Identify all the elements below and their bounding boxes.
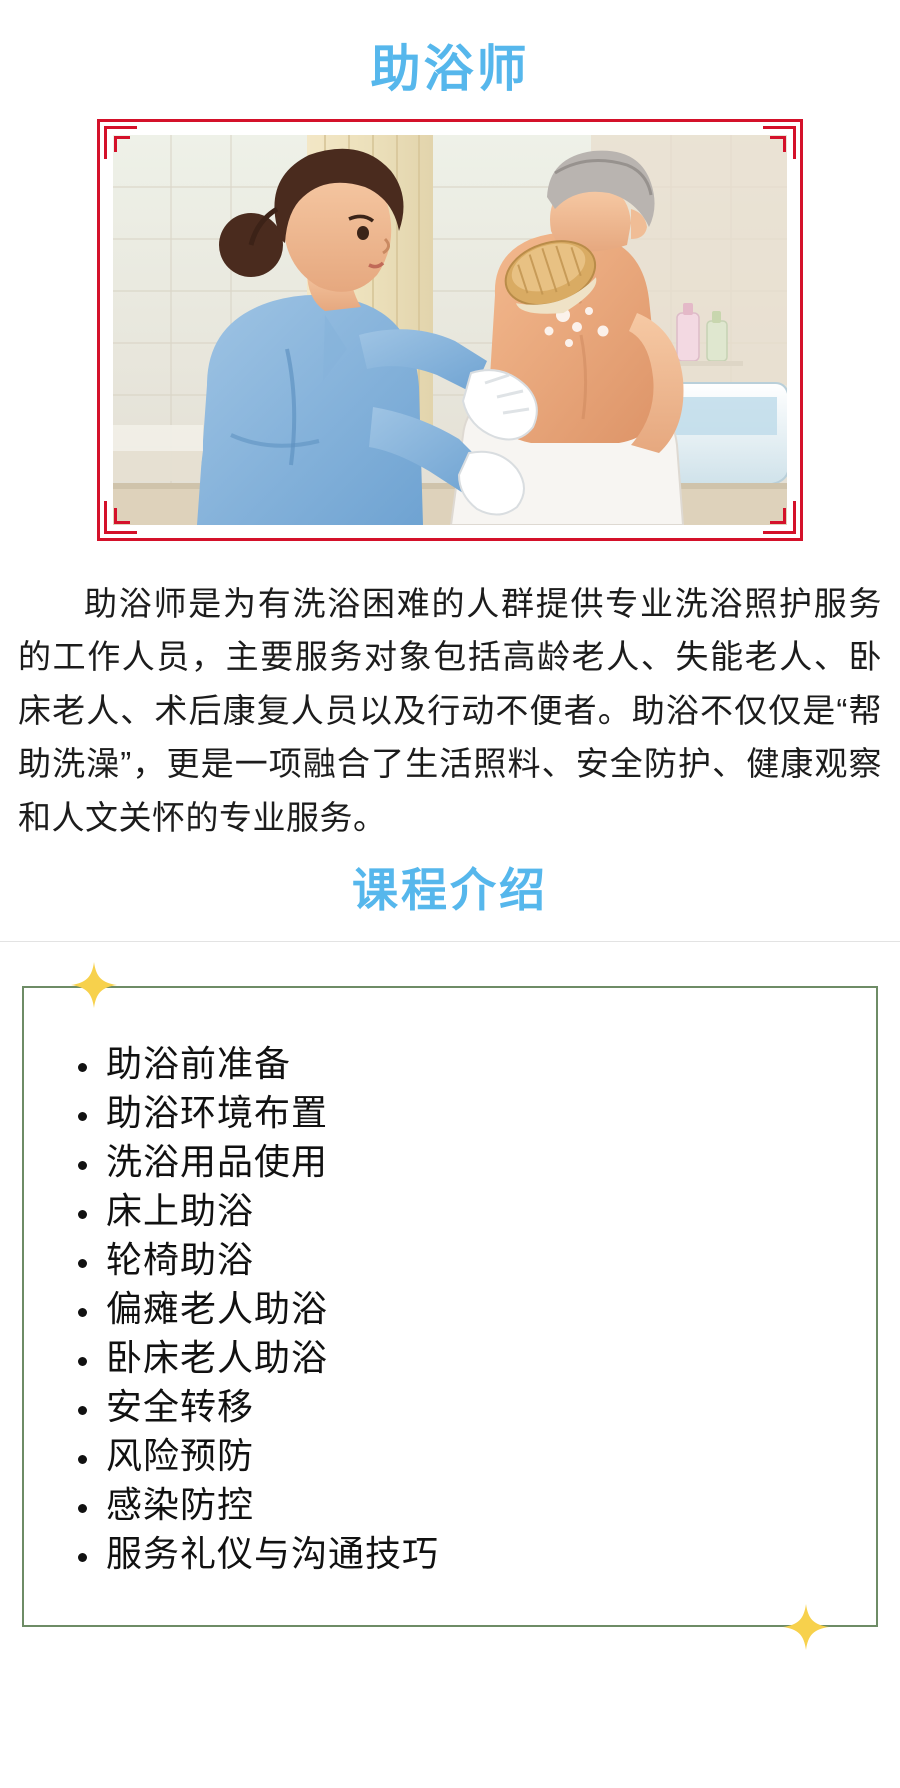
section-title-course: 课程介绍 bbox=[0, 864, 900, 917]
list-item[interactable]: 安全转移 bbox=[76, 1383, 876, 1432]
page-title: 助浴师 bbox=[0, 0, 900, 97]
list-item[interactable]: 卧床老人助浴 bbox=[76, 1334, 876, 1383]
section-divider bbox=[0, 941, 900, 942]
list-item[interactable]: 风险预防 bbox=[76, 1432, 876, 1481]
hero-illustration bbox=[113, 135, 787, 525]
course-card-area: 助浴前准备 助浴环境布置 洗浴用品使用 床上助浴 轮椅助浴 偏瘫老人助浴 卧床老… bbox=[22, 986, 878, 1656]
list-item[interactable]: 偏瘫老人助浴 bbox=[76, 1285, 876, 1334]
list-item[interactable]: 洗浴用品使用 bbox=[76, 1138, 876, 1187]
list-item[interactable]: 助浴环境布置 bbox=[76, 1089, 876, 1138]
hero-image-block bbox=[97, 119, 803, 541]
photo-frame bbox=[97, 119, 803, 541]
course-list: 助浴前准备 助浴环境布置 洗浴用品使用 床上助浴 轮椅助浴 偏瘫老人助浴 卧床老… bbox=[24, 1040, 876, 1578]
course-card: 助浴前准备 助浴环境布置 洗浴用品使用 床上助浴 轮椅助浴 偏瘫老人助浴 卧床老… bbox=[22, 986, 878, 1626]
page-root: 助浴师 bbox=[0, 0, 900, 1788]
list-item[interactable]: 轮椅助浴 bbox=[76, 1236, 876, 1285]
list-item[interactable]: 床上助浴 bbox=[76, 1187, 876, 1236]
intro-paragraph: 助浴师是为有洗浴困难的人群提供专业洗浴照护服务的工作人员，主要服务对象包括高龄老… bbox=[18, 577, 882, 844]
list-item[interactable]: 助浴前准备 bbox=[76, 1040, 876, 1089]
list-item[interactable]: 服务礼仪与沟通技巧 bbox=[76, 1530, 876, 1579]
list-item[interactable]: 感染防控 bbox=[76, 1481, 876, 1530]
